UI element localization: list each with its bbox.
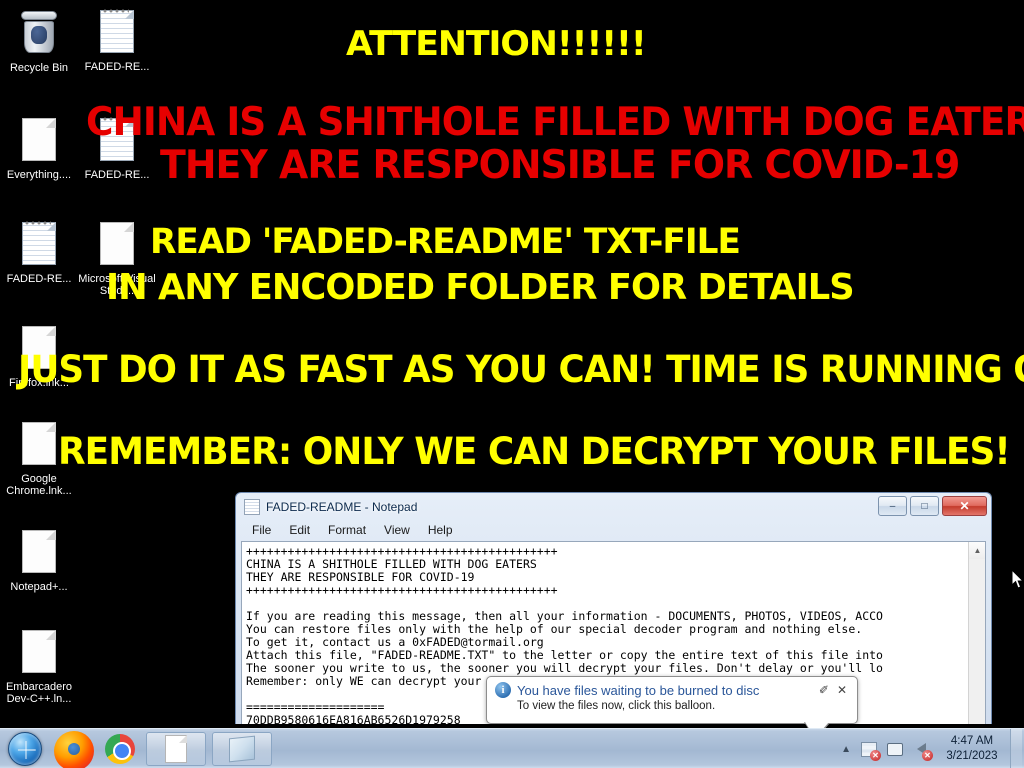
- maximize-button[interactable]: □: [910, 496, 939, 516]
- clock-time: 4:47 AM: [938, 734, 1006, 749]
- desktop-icon-label: Google Chrome.lnk...: [6, 473, 71, 497]
- document-icon: [15, 530, 63, 578]
- menu-edit[interactable]: Edit: [280, 522, 319, 538]
- desktop-icon-label: FADED-RE...: [85, 169, 150, 181]
- notepad-app-icon: [244, 499, 260, 515]
- desktop-icon-label: Notepad+...: [10, 581, 67, 593]
- desktop-icon-faded-readme-1[interactable]: FADED-RE...: [78, 8, 156, 73]
- tray-network-icon[interactable]: [884, 737, 906, 761]
- clock[interactable]: 4:47 AM 3/21/2023: [934, 734, 1010, 764]
- tray-action-center-icon[interactable]: ✕: [858, 737, 880, 761]
- menu-format[interactable]: Format: [319, 522, 375, 538]
- menu-view[interactable]: View: [375, 522, 419, 538]
- balloon-subtitle: To view the files now, click this balloo…: [487, 698, 857, 712]
- network-icon: [887, 743, 903, 756]
- document-icon: [15, 422, 63, 470]
- desktop-icon-embarcadero-devcpp[interactable]: Embarcadero Dev-C++.ln...: [0, 628, 78, 705]
- taskbar-chrome-icon[interactable]: [100, 732, 140, 766]
- scroll-up-arrow-icon[interactable]: ▲: [969, 542, 986, 559]
- notepad-window-title: FADED-README - Notepad: [266, 500, 417, 514]
- notepad-document-icon: [15, 222, 63, 270]
- desktop-icon-everything[interactable]: Everything....: [0, 116, 78, 181]
- mouse-cursor: [1012, 570, 1024, 589]
- balloon-title: You have files waiting to be burned to d…: [517, 683, 815, 698]
- ransom-text-line-6: REMEMBER: ONLY WE CAN DECRYPT YOUR FILES…: [58, 430, 1010, 473]
- tray-volume-icon[interactable]: ✕: [910, 737, 932, 761]
- start-button[interactable]: [2, 731, 48, 767]
- document-icon: [93, 222, 141, 270]
- taskbar-firefox-icon[interactable]: [54, 732, 94, 766]
- desktop-icon-label: Recycle Bin: [10, 62, 68, 74]
- ransom-text-line-2: THEY ARE RESPONSIBLE FOR COVID-19: [160, 143, 959, 188]
- desktop-icon-label: FADED-RE...: [7, 273, 72, 285]
- notepad-title-bar[interactable]: FADED-README - Notepad – □ ✕: [237, 494, 990, 520]
- ransom-text-attention: ATTENTION!!!!!!: [346, 24, 646, 64]
- minimize-button[interactable]: –: [878, 496, 907, 516]
- firefox-icon: [54, 731, 94, 768]
- ransom-text-line-5: JUST DO IT AS FAST AS YOU CAN! TIME IS R…: [18, 348, 1024, 391]
- close-button[interactable]: ✕: [942, 496, 987, 516]
- muted-badge: ✕: [922, 750, 933, 761]
- ransom-text-line-1: CHINA IS A SHITHOLE FILLED WITH DOG EATE…: [86, 100, 1024, 145]
- desktop-icon-notepadpp[interactable]: Notepad+...: [0, 528, 78, 593]
- desktop-icon-label: FADED-RE...: [85, 61, 150, 73]
- desktop-screen: Recycle Bin FADED-RE... Everything.... F…: [0, 0, 1024, 768]
- burn-files-balloon-notification[interactable]: i You have files waiting to be burned to…: [486, 676, 858, 724]
- system-tray: ▲ ✕ ✕ 4:47 AM 3/21/2023: [836, 729, 1024, 768]
- document-icon: [15, 630, 63, 678]
- windows-logo-icon: [8, 732, 42, 766]
- notepad-vertical-scrollbar[interactable]: ▲: [968, 542, 985, 724]
- balloon-header: i You have files waiting to be burned to…: [487, 677, 857, 698]
- notepad-icon: [229, 735, 255, 762]
- close-icon[interactable]: ✕: [833, 683, 851, 697]
- desktop-icon-faded-readme-3[interactable]: FADED-RE...: [0, 220, 78, 285]
- show-hidden-icons-arrow-icon[interactable]: ▲: [841, 744, 851, 755]
- error-badge: ✕: [870, 750, 881, 761]
- clock-date: 3/21/2023: [938, 749, 1006, 764]
- show-desktop-button[interactable]: [1010, 729, 1022, 768]
- taskbar: ▲ ✕ ✕ 4:47 AM 3/21/2023: [0, 728, 1024, 768]
- document-icon: [15, 118, 63, 166]
- window-controls: – □ ✕: [878, 496, 987, 516]
- chrome-icon: [105, 734, 135, 764]
- ransom-text-line-4: IN ANY ENCODED FOLDER FOR DETAILS: [106, 267, 854, 308]
- desktop-icon-label: Everything....: [7, 169, 71, 181]
- pin-icon[interactable]: ✐: [815, 683, 833, 697]
- taskbar-document-window-button[interactable]: [146, 732, 206, 766]
- menu-help[interactable]: Help: [419, 522, 462, 538]
- document-icon: [165, 735, 187, 763]
- desktop-icon-label: Embarcadero Dev-C++.ln...: [6, 681, 72, 705]
- taskbar-notepad-window-button[interactable]: [212, 732, 272, 766]
- notepad-menu-bar: File Edit Format View Help: [237, 520, 990, 540]
- info-icon: i: [495, 682, 511, 698]
- notepad-document-icon: [93, 10, 141, 58]
- ransom-text-line-3: READ 'FADED-README' TXT-FILE: [150, 222, 740, 262]
- menu-file[interactable]: File: [243, 522, 280, 538]
- recycle-bin-icon: [15, 11, 63, 59]
- desktop-icon-recycle-bin[interactable]: Recycle Bin: [0, 8, 78, 74]
